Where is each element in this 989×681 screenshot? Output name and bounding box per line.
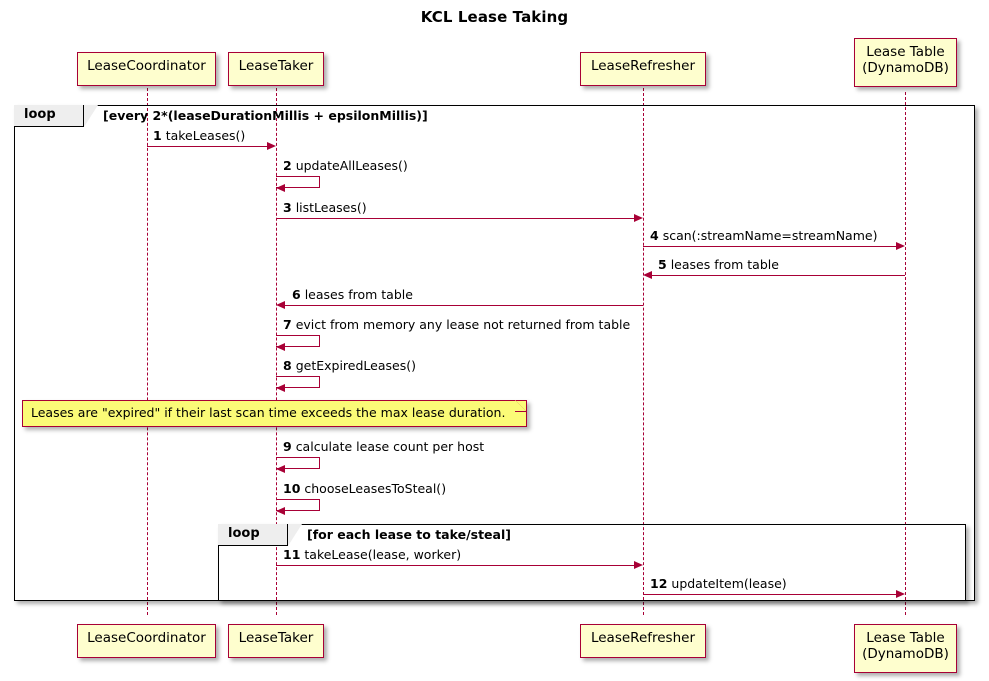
message-text-1: takeLeases()	[166, 128, 246, 143]
message-line-3	[276, 218, 634, 219]
message-seq-9: 9	[283, 439, 292, 454]
message-seq-5: 5	[658, 257, 667, 272]
message-label-10: 10 chooseLeasesToSteal()	[283, 481, 446, 496]
note-expired-leases: Leases are "expired" if their last scan …	[22, 400, 527, 427]
message-text-7: evict from memory any lease not returned…	[296, 317, 631, 332]
message-label-9: 9 calculate lease count per host	[283, 439, 484, 454]
frame-outer-loop-tab-corner	[84, 105, 98, 127]
message-arrow-9	[276, 465, 285, 473]
participant-lease-coordinator-top[interactable]: LeaseCoordinator	[77, 52, 216, 86]
message-seq-7: 7	[283, 317, 292, 332]
message-text-9: calculate lease count per host	[296, 439, 484, 454]
frame-outer-loop-guard: [every 2*(leaseDurationMillis + epsilonM…	[103, 108, 428, 123]
message-label-6: 6 leases from table	[292, 287, 413, 302]
message-arrow-12	[896, 590, 905, 598]
message-arrow-4	[896, 242, 905, 250]
message-line-5	[652, 275, 905, 276]
message-label-4: 4 scan(:streamName=streamName)	[650, 228, 877, 243]
message-label-12: 12 updateItem(lease)	[650, 576, 787, 591]
message-seq-12: 12	[650, 576, 667, 591]
message-text-6: leases from table	[305, 287, 413, 302]
participant-lease-table-bottom[interactable]: Lease Table (DynamoDB)	[854, 624, 957, 673]
message-text-10: chooseLeasesToSteal()	[304, 481, 446, 496]
message-seq-3: 3	[283, 200, 292, 215]
sequence-diagram: KCL Lease Taking LeaseCoordinator LeaseT…	[0, 0, 989, 681]
message-arrow-2	[276, 184, 285, 192]
message-text-2: updateAllLeases()	[296, 158, 408, 173]
message-line-6	[285, 305, 643, 306]
participant-lease-coordinator-bottom[interactable]: LeaseCoordinator	[77, 624, 216, 658]
note-fold	[515, 400, 526, 411]
message-arrow-8	[276, 384, 285, 392]
frame-inner-loop-guard: [for each lease to take/steal]	[307, 527, 511, 542]
participant-lease-refresher-top[interactable]: LeaseRefresher	[580, 52, 706, 86]
participant-lease-table-top[interactable]: Lease Table (DynamoDB)	[854, 38, 957, 87]
message-arrow-6	[276, 301, 285, 309]
message-seq-2: 2	[283, 158, 292, 173]
message-seq-10: 10	[283, 481, 300, 496]
message-arrow-3	[634, 214, 643, 222]
message-text-11: takeLease(lease, worker)	[304, 547, 461, 562]
message-seq-8: 8	[283, 358, 292, 373]
message-line-4	[643, 246, 896, 247]
participant-lease-taker-bottom[interactable]: LeaseTaker	[228, 624, 324, 658]
participant-lease-taker-top[interactable]: LeaseTaker	[228, 52, 324, 86]
message-seq-11: 11	[283, 547, 300, 562]
message-text-12: updateItem(lease)	[671, 576, 786, 591]
message-text-5: leases from table	[671, 257, 779, 272]
message-arrow-1	[267, 142, 276, 150]
message-seq-1: 1	[153, 128, 162, 143]
message-label-7: 7 evict from memory any lease not return…	[283, 317, 630, 332]
message-arrow-5	[643, 271, 652, 279]
frame-outer-loop-tab: loop	[14, 105, 84, 127]
message-arrow-7	[276, 343, 285, 351]
message-seq-4: 4	[650, 228, 659, 243]
message-text-3: listLeases()	[296, 200, 367, 215]
message-line-12	[643, 594, 896, 595]
diagram-title: KCL Lease Taking	[0, 8, 989, 26]
message-label-1: 1 takeLeases()	[153, 128, 245, 143]
message-arrow-11	[634, 561, 643, 569]
message-label-3: 3 listLeases()	[283, 200, 367, 215]
frame-inner-loop-tab: loop	[218, 524, 288, 546]
message-label-8: 8 getExpiredLeases()	[283, 358, 416, 373]
message-arrow-10	[276, 507, 285, 515]
message-seq-6: 6	[292, 287, 301, 302]
frame-inner-loop-tab-corner	[288, 524, 302, 546]
message-line-1	[147, 146, 267, 147]
message-text-8: getExpiredLeases()	[296, 358, 416, 373]
message-label-2: 2 updateAllLeases()	[283, 158, 408, 173]
message-label-5: 5 leases from table	[658, 257, 779, 272]
message-text-4: scan(:streamName=streamName)	[663, 228, 878, 243]
participant-lease-refresher-bottom[interactable]: LeaseRefresher	[580, 624, 706, 658]
message-line-11	[276, 565, 634, 566]
message-label-11: 11 takeLease(lease, worker)	[283, 547, 461, 562]
